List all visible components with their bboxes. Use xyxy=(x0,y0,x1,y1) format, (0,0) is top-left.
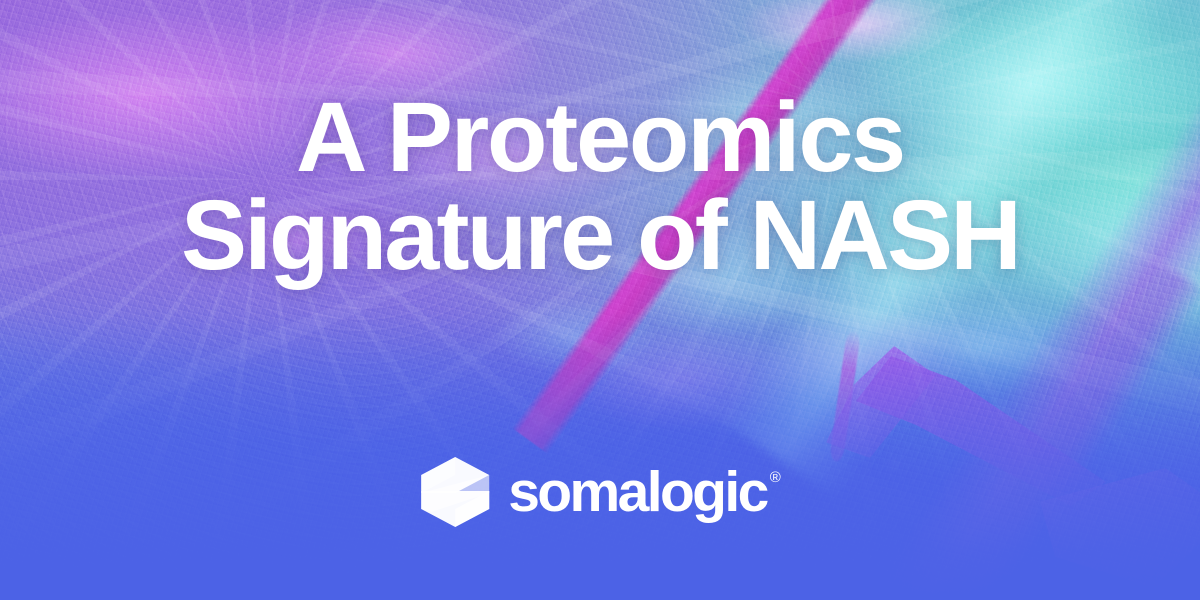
somalogic-logo: somalogic ® xyxy=(419,455,781,529)
banner-content: A Proteomics Signature of NASH somalogic… xyxy=(0,0,1200,600)
promo-banner: A Proteomics Signature of NASH somalogic… xyxy=(0,0,1200,600)
somalogic-logo-mark-icon xyxy=(419,455,491,529)
registered-trademark-icon: ® xyxy=(770,470,781,485)
somalogic-wordmark: somalogic xyxy=(508,464,767,521)
somalogic-wordmark-wrap: somalogic ® xyxy=(508,464,781,521)
page-title: A Proteomics Signature of NASH xyxy=(0,0,1200,284)
page-title-line-2: Signature of NASH xyxy=(0,186,1200,284)
page-title-line-1: A Proteomics xyxy=(0,88,1200,186)
